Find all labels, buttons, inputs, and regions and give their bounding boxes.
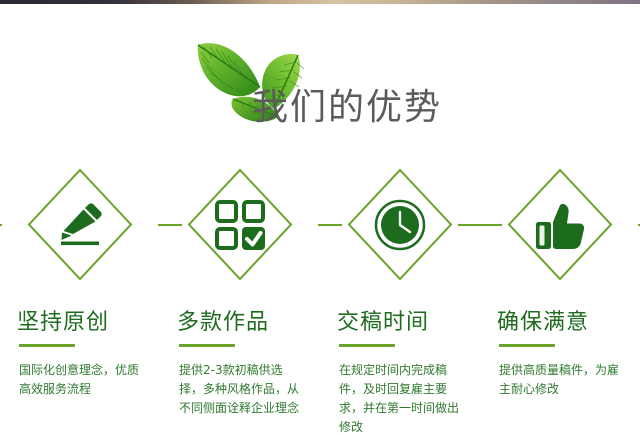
connector-line-left-1	[0, 224, 2, 226]
diamond-badge-4	[480, 168, 640, 288]
thumbs-up-icon	[507, 168, 613, 281]
diamond-badge-1	[0, 168, 160, 288]
accent-bar-4	[499, 344, 555, 347]
advantage-heading-3: 交稿时间	[320, 304, 480, 336]
advantage-body-4: 提供高质量稿件，为雇主耐心修改	[480, 361, 633, 399]
accent-bar-1	[19, 344, 75, 347]
accent-bar-3	[339, 344, 395, 347]
advantage-body-2: 提供2-3款初稿供选择，多种风格作品，从不同侧面诠释企业理念	[160, 361, 313, 418]
advantage-body-1: 国际化创意理念，优质高效服务流程	[0, 361, 153, 399]
page-title: 我们的优势	[252, 78, 442, 130]
pencil-icon	[27, 168, 133, 281]
advantage-item-2: 多款作品 提供2-3款初稿供选择，多种风格作品，从不同侧面诠释企业理念	[160, 168, 320, 444]
diamond-badge-3	[320, 168, 480, 288]
advantage-item-1: 坚持原创 国际化创意理念，优质高效服务流程	[0, 168, 160, 444]
advantages-list: 坚持原创 国际化创意理念，优质高效服务流程	[0, 168, 640, 444]
advantage-body-3: 在规定时间内完成稿件，及时回复雇主要求，并在第一时间做出修改	[320, 361, 473, 437]
advantage-item-4: 确保满意 提供高质量稿件，为雇主耐心修改	[480, 168, 640, 444]
connector-line-left-4	[458, 224, 482, 226]
accent-bar-2	[179, 344, 235, 347]
diamond-badge-2	[160, 168, 320, 288]
advantage-item-3: 交稿时间 在规定时间内完成稿件，及时回复雇主要求，并在第一时间做出修改	[320, 168, 480, 444]
page-header: 我们的优势	[0, 0, 640, 160]
advantage-heading-1: 坚持原创	[0, 304, 160, 336]
advantage-heading-4: 确保满意	[480, 304, 640, 336]
checklist-grid-icon	[187, 168, 293, 281]
advantage-heading-2: 多款作品	[160, 304, 320, 336]
clock-icon	[347, 168, 453, 281]
